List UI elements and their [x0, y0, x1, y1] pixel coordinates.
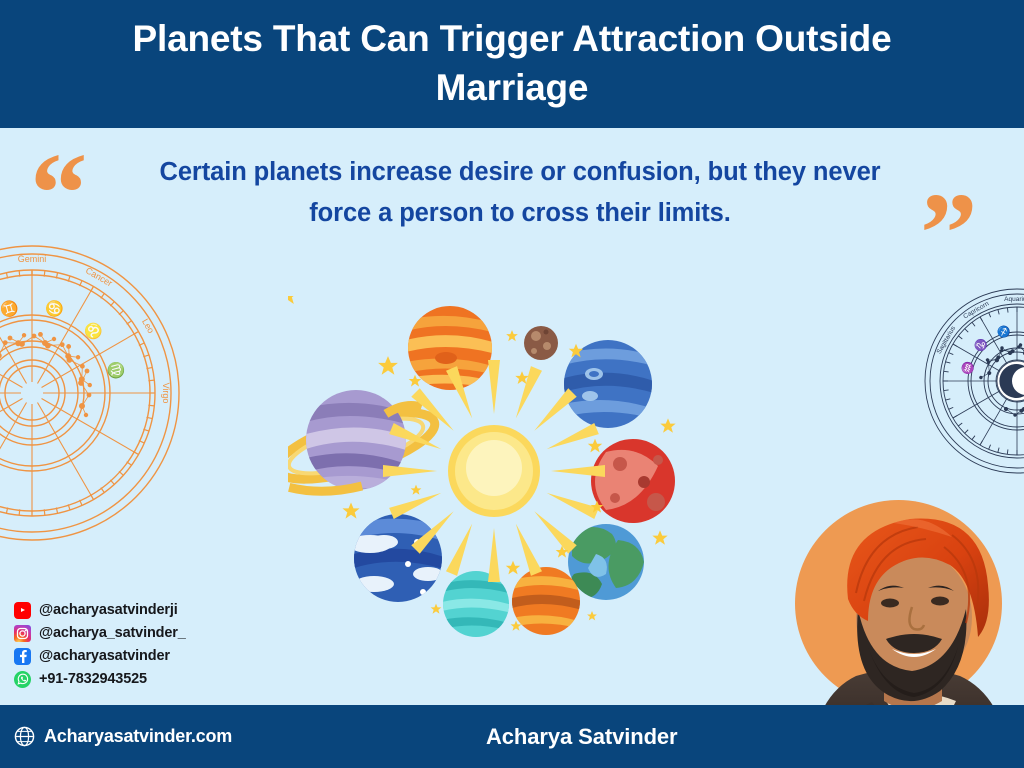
whatsapp-icon [14, 671, 31, 688]
instagram-icon [14, 625, 31, 642]
footer-bar: Acharyasatvinder.com Acharya Satvinder [0, 705, 1024, 768]
social-row-youtube[interactable]: @acharyasatvinderji [14, 599, 284, 621]
social-handle-youtube: @acharyasatvinderji [39, 602, 178, 618]
social-row-whatsapp[interactable]: +91-7832943525 [14, 668, 284, 690]
social-row-facebook[interactable]: @acharyasatvinder [14, 645, 284, 667]
mars-red-planet [591, 439, 675, 523]
earth-planet [568, 524, 644, 600]
zodiac-wheel-right-icon: ♒ ♑ ♐ ♏ ♎ ♓ Sagittarius Capricorn Aquari… [922, 286, 1024, 476]
youtube-icon [14, 602, 31, 619]
quote-open-mark: “ [30, 136, 88, 251]
page-title: Planets That Can Trigger Attraction Outs… [0, 15, 1024, 113]
neptune-cloudy-planet [348, 514, 444, 602]
svg-text:Virgo: Virgo [161, 383, 171, 404]
solar-system-illustration [288, 296, 700, 646]
svg-text:♌: ♌ [81, 319, 107, 345]
facebook-icon [14, 648, 31, 665]
globe-icon [14, 726, 35, 747]
svg-text:Leo: Leo [140, 317, 156, 335]
uranus-teal-planet [442, 571, 512, 637]
svg-text:Aquarius: Aquarius [1004, 296, 1024, 303]
footer-brand-name: Acharya Satvinder [486, 705, 678, 768]
quote-text: Certain planets increase desire or confu… [150, 152, 890, 235]
svg-text:♐: ♐ [996, 324, 1013, 340]
footer-website-link[interactable]: Acharyasatvinder.com [14, 705, 232, 768]
svg-text:♑: ♑ [972, 336, 991, 355]
social-handle-instagram: @acharya_satvinder_ [39, 625, 186, 641]
footer-website-text: Acharyasatvinder.com [44, 726, 232, 747]
poster-canvas: ♈ ♉ ♊ ♋ ♌ ♍ Aries Taurus Gemini Cancer L… [0, 0, 1024, 768]
social-row-instagram[interactable]: @acharya_satvinder_ [14, 622, 284, 644]
svg-text:♒: ♒ [960, 359, 976, 376]
social-handles-list: @acharyasatvinderji @acharya_satvinder_ … [14, 599, 284, 691]
mercury-small-planet [524, 326, 558, 360]
header-bar: Planets That Can Trigger Attraction Outs… [0, 0, 1024, 128]
social-handle-facebook: @acharyasatvinder [39, 648, 170, 664]
quote-close-mark: ” [920, 176, 978, 291]
zodiac-wheel-left-icon: ♈ ♉ ♊ ♋ ♌ ♍ Aries Taurus Gemini Cancer L… [0, 243, 182, 543]
social-handle-whatsapp: +91-7832943525 [39, 671, 147, 687]
sun-illustration [383, 360, 605, 582]
quote-section: “ Certain planets increase desire or con… [0, 128, 1024, 263]
